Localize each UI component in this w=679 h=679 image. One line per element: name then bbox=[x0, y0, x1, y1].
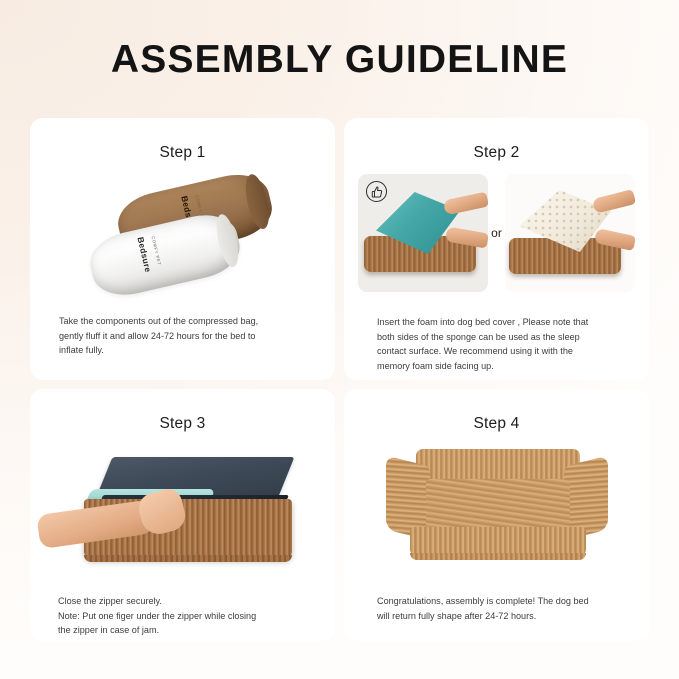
step-3-illustration bbox=[52, 451, 314, 571]
bed-backrest-bolster bbox=[416, 449, 580, 483]
bed-seat-cushion bbox=[426, 479, 570, 533]
compressed-roll-white: Bedsure COMFY PET bbox=[85, 208, 245, 302]
step-3-heading: Step 3 bbox=[30, 415, 335, 433]
step-4-illustration bbox=[382, 449, 612, 567]
step-2-caption: Insert the foam into dog bed cover , Ple… bbox=[377, 315, 633, 374]
page-title: ASSEMBLY GUIDELINE bbox=[0, 40, 679, 79]
step-card-2: Step 2 or bbox=[344, 118, 649, 380]
bed-front-edge bbox=[410, 527, 586, 557]
roll-brand-sublabel: COMFY PET bbox=[151, 236, 163, 266]
step-4-caption: Congratulations, assembly is complete! T… bbox=[377, 594, 627, 623]
step-1-heading: Step 1 bbox=[30, 144, 335, 162]
step-card-3: Step 3 Close the zipper securely. Note: … bbox=[30, 389, 335, 641]
step-2-illustration: or bbox=[358, 174, 635, 292]
step-2-option-left bbox=[358, 174, 488, 292]
step-4-heading: Step 4 bbox=[344, 415, 649, 433]
steps-grid: Step 1 Bedsure COMFY PET Bedsure COMFY P… bbox=[30, 118, 649, 648]
hand-upper bbox=[443, 192, 488, 216]
step-1-caption: Take the components out of the compresse… bbox=[59, 314, 315, 358]
step-card-1: Step 1 Bedsure COMFY PET Bedsure COMFY P… bbox=[30, 118, 335, 380]
step-card-4: Step 4 Congratulations, assembly is comp… bbox=[344, 389, 649, 641]
step-3-caption: Close the zipper securely. Note: Put one… bbox=[58, 594, 321, 638]
hand-upper bbox=[592, 189, 635, 214]
step-2-option-right bbox=[505, 174, 635, 292]
step-2-heading: Step 2 bbox=[344, 144, 649, 162]
assembly-guideline-page: ASSEMBLY GUIDELINE Step 1 Bedsure COMFY … bbox=[0, 0, 679, 679]
option-divider-or: or bbox=[488, 174, 505, 292]
thumbs-up-icon bbox=[366, 181, 387, 202]
step-1-illustration: Bedsure COMFY PET Bedsure COMFY PET bbox=[30, 170, 335, 305]
